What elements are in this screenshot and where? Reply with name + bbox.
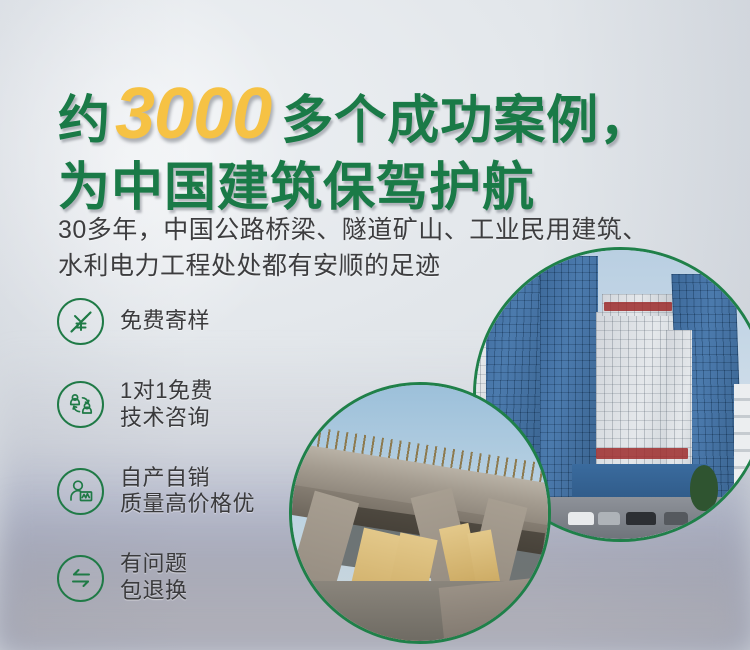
- feature-label-line-1: 有问题: [120, 551, 188, 576]
- bridge-photo: [289, 382, 551, 644]
- rooftop-sign: [604, 302, 672, 311]
- two-people-exchange-icon: [57, 381, 104, 428]
- headline-suffix: 多个成功案例，: [281, 95, 652, 147]
- headline-number: 3000: [111, 78, 281, 150]
- feature-item-self-production: 自产自销 质量高价格优: [57, 465, 255, 519]
- bridge-photo-inner: [292, 385, 548, 641]
- feature-label: 1对1免费 技术咨询: [120, 378, 213, 432]
- feature-list: 免费寄样 1对1免费 技术咨询: [57, 298, 255, 605]
- headline-line-1: 约 3000 多个成功案例，: [58, 78, 718, 150]
- exchange-arrows-icon: [57, 555, 104, 602]
- car-white: [568, 512, 594, 525]
- feature-label: 免费寄样: [120, 308, 210, 335]
- feature-label-line-2: 质量高价格优: [120, 491, 255, 518]
- car-dark: [626, 512, 656, 525]
- car-silver: [598, 512, 620, 525]
- feature-label-line-1: 1对1免费: [120, 378, 213, 403]
- feature-label-line-1: 自产自销: [120, 465, 210, 490]
- promo-banner: 约 3000 多个成功案例， 为中国建筑保驾护航 30多年，中国公路桥梁、隧道矿…: [0, 0, 750, 650]
- car-grey: [664, 512, 688, 525]
- street-tree: [690, 465, 718, 511]
- person-chart-icon: [57, 468, 104, 515]
- podium-sign: [596, 448, 688, 459]
- feature-label: 自产自销 质量高价格优: [120, 465, 255, 519]
- no-fee-yen-icon: [57, 298, 104, 345]
- headline: 约 3000 多个成功案例， 为中国建筑保驾护航: [58, 78, 718, 214]
- feature-label-line-2: 包退换: [120, 578, 188, 605]
- headline-prefix: 约: [58, 95, 111, 147]
- subtitle-line-1: 30多年，中国公路桥梁、隧道矿山、工业民用建筑、: [58, 212, 748, 248]
- feature-item-one-on-one: 1对1免费 技术咨询: [57, 378, 255, 432]
- feature-label-line-1: 免费寄样: [120, 308, 210, 333]
- feature-item-free-sample: 免费寄样: [57, 298, 255, 345]
- headline-line-2: 为中国建筑保驾护航: [58, 162, 718, 214]
- feature-item-return-exchange: 有问题 包退换: [57, 551, 255, 605]
- feature-label-line-2: 技术咨询: [120, 405, 213, 432]
- feature-label: 有问题 包退换: [120, 551, 188, 605]
